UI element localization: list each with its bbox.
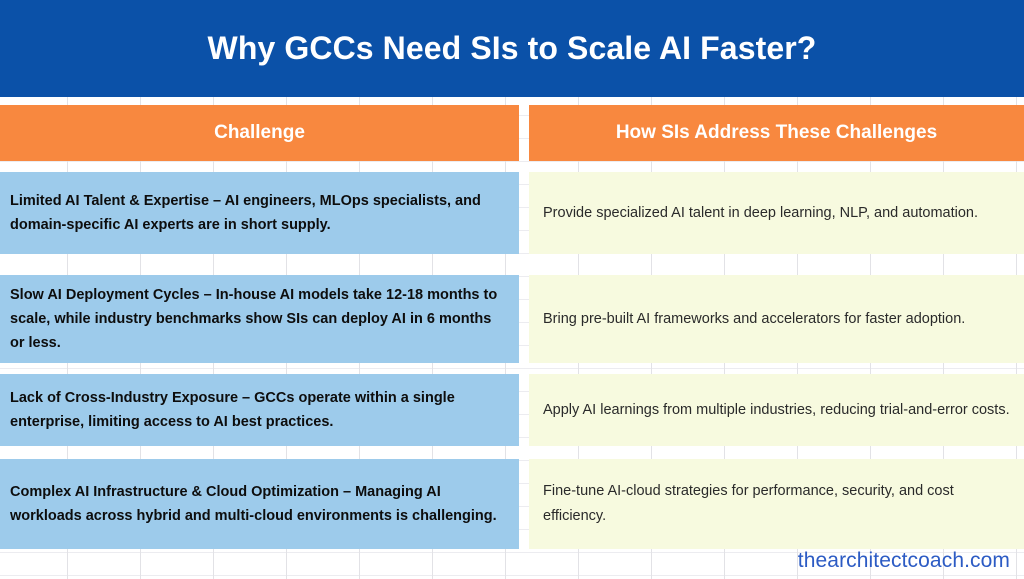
challenge-text: Slow AI Deployment Cycles – In-house AI … — [10, 283, 507, 355]
site-watermark: thearchitectcoach.com — [798, 549, 1010, 573]
column-header-solution: How SIs Address These Challenges — [529, 105, 1024, 161]
table-row: Slow AI Deployment Cycles – In-house AI … — [0, 275, 519, 363]
table-row: Provide specialized AI talent in deep le… — [529, 172, 1024, 254]
table-row: Limited AI Talent & Expertise – AI engin… — [0, 172, 519, 254]
column-header-solution-label: How SIs Address These Challenges — [616, 122, 937, 144]
title-banner: Why GCCs Need SIs to Scale AI Faster? — [0, 0, 1024, 97]
table-row: Fine-tune AI-cloud strategies for perfor… — [529, 459, 1024, 549]
solution-text: Fine-tune AI-cloud strategies for perfor… — [543, 479, 1010, 529]
challenge-text: Lack of Cross-Industry Exposure – GCCs o… — [10, 386, 507, 434]
spreadsheet-canvas: Why GCCs Need SIs to Scale AI Faster? Ch… — [0, 0, 1024, 579]
table-row: Apply AI learnings from multiple industr… — [529, 374, 1024, 446]
page-title: Why GCCs Need SIs to Scale AI Faster? — [208, 30, 817, 67]
table-row: Lack of Cross-Industry Exposure – GCCs o… — [0, 374, 519, 446]
table-row: Bring pre-built AI frameworks and accele… — [529, 275, 1024, 363]
solution-text: Provide specialized AI talent in deep le… — [543, 201, 978, 226]
solution-text: Bring pre-built AI frameworks and accele… — [543, 307, 965, 332]
table-row: Complex AI Infrastructure & Cloud Optimi… — [0, 459, 519, 549]
column-header-challenge-label: Challenge — [214, 122, 305, 144]
challenge-text: Complex AI Infrastructure & Cloud Optimi… — [10, 480, 507, 528]
column-header-challenge: Challenge — [0, 105, 519, 161]
challenge-text: Limited AI Talent & Expertise – AI engin… — [10, 189, 507, 237]
solution-text: Apply AI learnings from multiple industr… — [543, 398, 1010, 423]
